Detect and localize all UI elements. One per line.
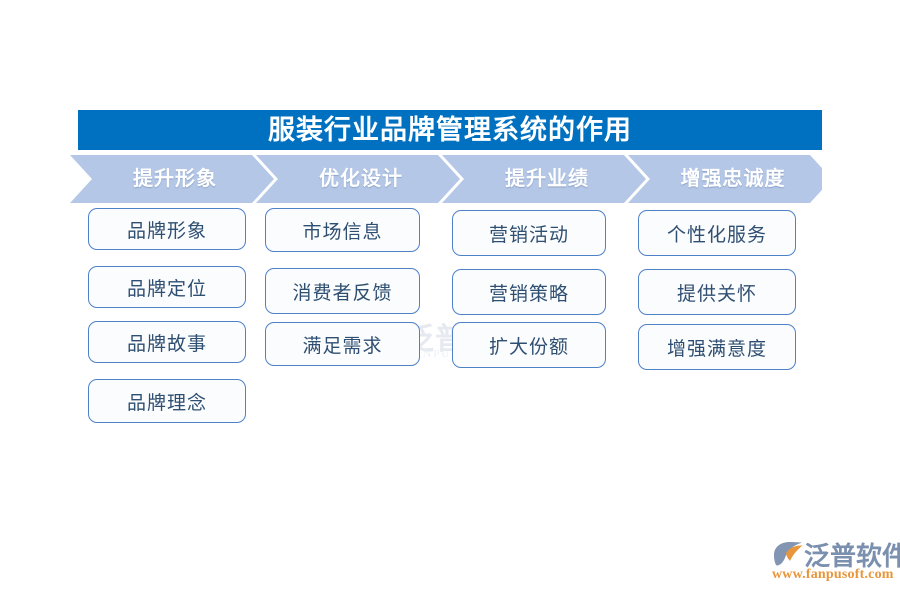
title-bar: 服装行业品牌管理系统的作用 — [78, 110, 822, 150]
chevron-label-0[interactable]: 提升形象 — [82, 155, 268, 203]
brand-logo-icon — [770, 540, 806, 570]
node-box[interactable]: 品牌理念 — [88, 379, 246, 423]
node-box[interactable]: 营销活动 — [452, 210, 606, 256]
chevron-label-3[interactable]: 增强忠诚度 — [640, 155, 826, 203]
node-box[interactable]: 市场信息 — [265, 208, 420, 252]
node-box[interactable]: 扩大份额 — [452, 322, 606, 368]
infographic-canvas: 泛普软件 FANPU SOFTWARE 服装行业品牌管理系统的作用 提升形象 优… — [0, 0, 900, 600]
chevron-label-1[interactable]: 优化设计 — [268, 155, 454, 203]
node-box[interactable]: 消费者反馈 — [265, 268, 420, 314]
node-box[interactable]: 品牌定位 — [88, 266, 246, 308]
node-box[interactable]: 品牌形象 — [88, 208, 246, 250]
node-box[interactable]: 个性化服务 — [638, 210, 796, 256]
node-box[interactable]: 营销策略 — [452, 269, 606, 315]
chevron-band: 提升形象 优化设计 提升业绩 增强忠诚度 — [70, 155, 822, 203]
node-box[interactable]: 品牌故事 — [88, 321, 246, 363]
node-box[interactable]: 提供关怀 — [638, 269, 796, 315]
brand-url: www.fanpusoft.com — [772, 567, 894, 583]
brand-logo: 泛普软件 www.fanpusoft.com — [770, 536, 894, 590]
page-title: 服装行业品牌管理系统的作用 — [78, 110, 822, 150]
node-box[interactable]: 满足需求 — [265, 322, 420, 366]
chevron-label-2[interactable]: 提升业绩 — [454, 155, 640, 203]
node-box[interactable]: 增强满意度 — [638, 324, 796, 370]
